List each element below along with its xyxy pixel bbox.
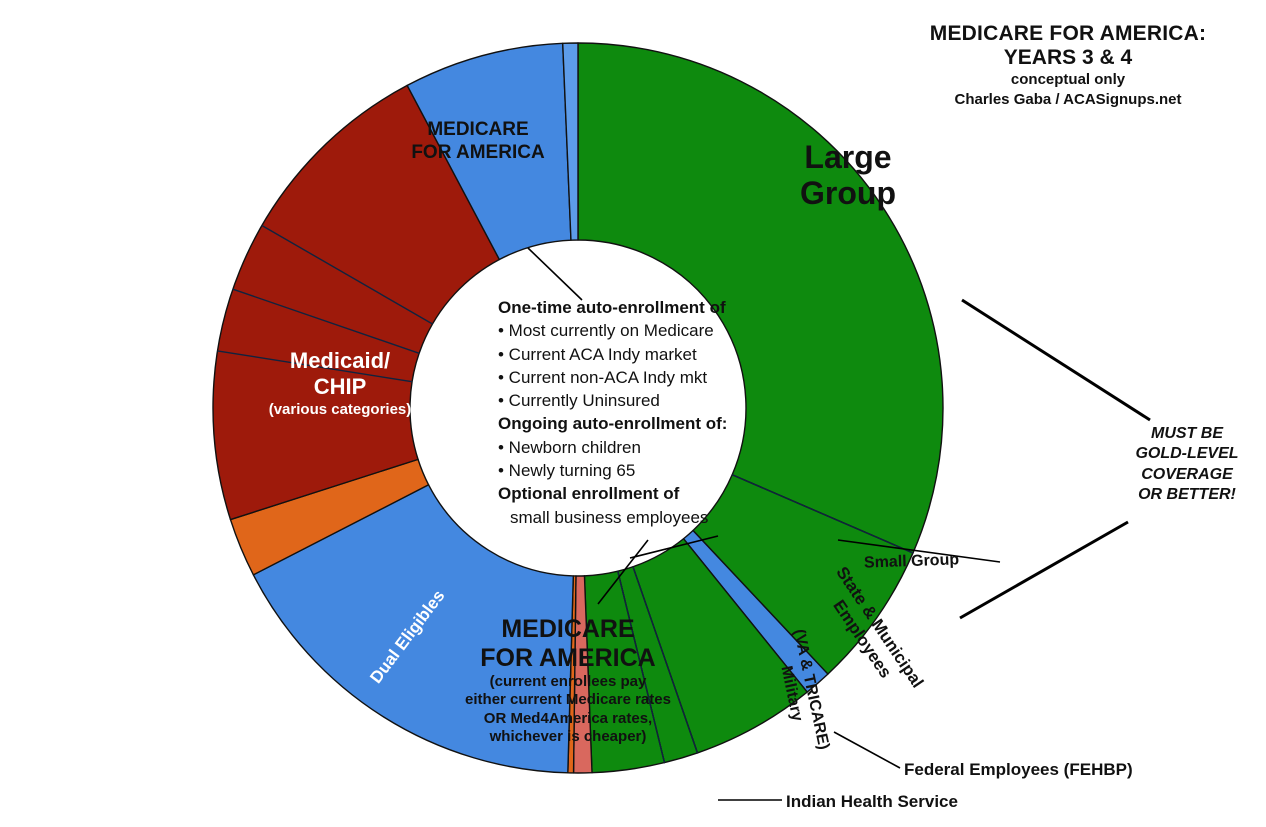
gold-line-1: MUST BE [1112,424,1262,444]
center-item-newborn: • Newborn children [498,436,768,459]
slice-label-m4a-lower: MEDICARE FOR AMERICA (current enrollees … [438,615,698,747]
slice-label-large-group-line2: Group [778,176,918,212]
center-text-block: One-time auto-enrollment of • Most curre… [498,296,768,529]
center-item-turning-65: • Newly turning 65 [498,459,768,482]
slice-label-small-group: Small Group [864,551,960,572]
slice-label-m4a-lower-line1: MEDICARE [438,615,698,644]
center-heading-onetime: One-time auto-enrollment of [498,296,768,319]
slice-label-m4a-lower-sub2: either current Medicare rates [438,691,698,710]
gold-level-annotation: MUST BE GOLD-LEVEL COVERAGE OR BETTER! [1112,424,1262,506]
slice-label-m4a-upper-line2: FOR AMERICA [378,141,578,164]
callout-gold-upper [962,300,1150,420]
slice-label-medicaid-line2: CHIP [240,374,440,400]
slice-label-m4a-lower-sub1: (current enrollees pay [438,673,698,692]
slice-label-medicaid-line3: (various categories) [240,401,440,419]
slice-label-medicaid-chip: Medicaid/ CHIP (various categories) [240,348,440,419]
slice-label-large-group: Large Group [778,140,918,212]
slice-label-medicaid-line1: Medicaid/ [240,348,440,374]
title-subtitle-years: YEARS 3 & 4 [888,46,1248,70]
callout-federal [834,732,900,768]
center-item-medicare: • Most currently on Medicare [498,319,768,342]
slice-label-m4a-lower-sub4: whichever is cheaper) [438,728,698,747]
title-attribution: Charles Gaba / ACASignups.net [888,90,1248,110]
center-item-non-aca-indy: • Current non-ACA Indy mkt [498,366,768,389]
title-block: MEDICARE FOR AMERICA: YEARS 3 & 4 concep… [888,22,1248,109]
center-heading-optional: Optional enrollment of [498,482,768,505]
center-item-aca-indy: • Current ACA Indy market [498,343,768,366]
callout-label-indian-health-service: Indian Health Service [786,792,958,812]
center-item-small-business: small business employees [498,506,768,529]
slice-label-m4a-lower-sub3: OR Med4America rates, [438,710,698,729]
page-title: MEDICARE FOR AMERICA: [888,22,1248,46]
center-item-uninsured: • Currently Uninsured [498,389,768,412]
callout-gold-lower [960,522,1128,618]
slice-label-m4a-lower-line2: FOR AMERICA [438,644,698,673]
callout-label-federal-employees: Federal Employees (FEHBP) [904,760,1133,780]
center-heading-ongoing: Ongoing auto-enrollment of: [498,412,768,435]
slice-label-m4a-upper: MEDICARE FOR AMERICA [378,118,578,164]
gold-line-2: GOLD-LEVEL [1112,444,1262,464]
slice-label-m4a-upper-line1: MEDICARE [378,118,578,141]
gold-line-4: OR BETTER! [1112,485,1262,505]
gold-line-3: COVERAGE [1112,465,1262,485]
title-note-conceptual: conceptual only [888,70,1248,90]
slice-label-large-group-line1: Large [778,140,918,176]
infographic-root: MEDICARE FOR AMERICA: YEARS 3 & 4 concep… [0,0,1266,827]
leader-center-top [528,248,582,300]
